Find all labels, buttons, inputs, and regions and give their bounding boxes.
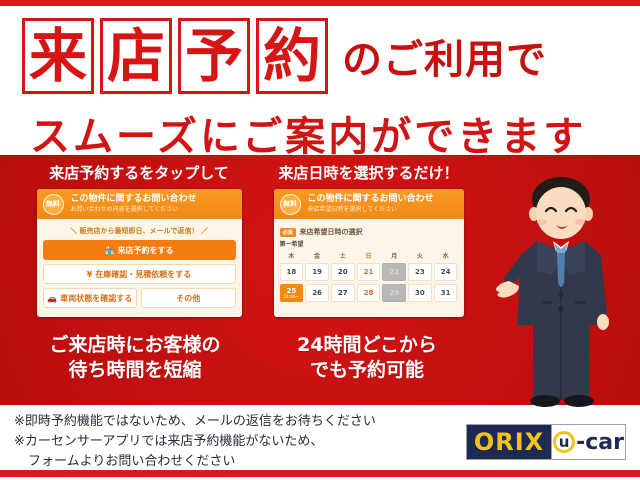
card-header-text: この物件に関するお問い合わせ 来店希望日時を選択してください <box>308 194 434 214</box>
weekday-cell: 土 <box>331 251 355 260</box>
bottom-accent-bar <box>0 470 640 477</box>
calendar-day-cell[interactable]: 28 <box>357 284 381 302</box>
footer-note-2: ※カーセンサーアプリでは来店予約機能がないため、 <box>14 432 444 452</box>
u-circle-icon: u <box>553 431 575 453</box>
stock-quote-button-label: 在庫確認・見積依頼をする <box>95 269 191 280</box>
right-caption: 24時間どこから でも予約可能 <box>262 333 472 383</box>
promo-text: ＼ 販売店から最短即日、メールで返信！ ／ <box>43 223 236 240</box>
calendar-day-cell[interactable]: 21 <box>357 263 381 281</box>
headline-boxed-char: 予 <box>178 18 250 94</box>
other-button-label: その他 <box>176 293 200 304</box>
orix-wordmark: ORIX <box>467 425 551 459</box>
weekday-cell: 日 <box>357 251 381 260</box>
headline-boxed-char: 約 <box>256 18 328 94</box>
feature-column-left: 来店予約するをタップして 無料 この物件に関するお問い合わせ お問い合わせの内容… <box>14 155 264 317</box>
calendar-day-cell[interactable]: 27 <box>331 284 355 302</box>
card-header-text: この物件に関するお問い合わせ お問い合わせの内容を選択してください <box>71 194 197 214</box>
calendar-day-cell[interactable]: 30 <box>408 284 432 302</box>
feature-column-right: 来店日時を選択するだけ！ 無料 この物件に関するお問い合わせ 来店希望日時を選択… <box>266 155 471 317</box>
car-icon: 🚗 <box>47 294 57 303</box>
calendar-week-row: 25 14:00〜 26 27 28 29 30 31 <box>280 284 458 302</box>
vehicle-condition-button-label: 車両状態を確認する <box>60 293 132 304</box>
store-icon: 🏪 <box>105 246 115 255</box>
date-picker-card: 無料 この物件に関するお問い合わせ 来店希望日時を選択してください 必須 来店希… <box>274 189 464 317</box>
calendar-section-label: 必須 来店希望日時の選択 <box>280 227 458 237</box>
other-button[interactable]: その他 <box>141 288 236 308</box>
preference-label: 第一希望 <box>280 239 458 248</box>
feature-panel: 来店予約するをタップして 無料 この物件に関するお問い合わせ お問い合わせの内容… <box>0 155 640 405</box>
calendar-day-cell[interactable]: 18 <box>280 263 304 281</box>
card-body: 必須 来店希望日時の選択 第一希望 木 金 土 日 月 火 水 18 19 20 <box>274 219 464 302</box>
calendar-day-cell[interactable]: 19 <box>305 263 329 281</box>
card-header-subtitle: お問い合わせの内容を選択してください <box>71 205 197 214</box>
right-column-title: 来店日時を選択するだけ！ <box>266 155 471 183</box>
weekday-cell: 水 <box>434 251 458 260</box>
free-badge: 無料 <box>280 194 301 215</box>
ucar-wordmark: u -car <box>551 425 625 459</box>
weekday-cell: 金 <box>305 251 329 260</box>
calendar-day-cell[interactable]: 23 <box>408 263 432 281</box>
top-accent-bar <box>0 0 640 6</box>
headline-line-1: 来 店 予 約 のご利用で <box>22 18 547 94</box>
calendar-day-cell-disabled: 29 <box>382 284 406 302</box>
free-badge: 無料 <box>43 194 64 215</box>
footer-notes: ※即時予約機能ではないため、メールの返信をお待ちください ※カーセンサーアプリで… <box>14 412 444 472</box>
card-header-title: この物件に関するお問い合わせ <box>71 194 197 205</box>
calendar-day-cell[interactable]: 20 <box>331 263 355 281</box>
card-header: 無料 この物件に関するお問い合わせ お問い合わせの内容を選択してください <box>37 189 242 219</box>
left-caption: ご来店時にお客様の 待ち時間を短縮 <box>10 333 260 383</box>
yen-icon: ¥ <box>87 270 93 279</box>
vehicle-condition-button[interactable]: 🚗 車両状態を確認する <box>43 288 138 308</box>
calendar-day-cell[interactable]: 24 <box>434 263 458 281</box>
calendar-day-cell-disabled: 22 <box>382 263 406 281</box>
weekday-cell: 火 <box>408 251 432 260</box>
weekday-cell: 木 <box>280 251 304 260</box>
calendar-section-title: 来店希望日時の選択 <box>300 227 363 237</box>
headline-line-2: スムーズにご案内ができます <box>30 104 586 162</box>
secondary-button-row: 🚗 車両状態を確認する その他 <box>43 288 236 308</box>
card-header-subtitle: 来店希望日時を選択してください <box>308 205 434 214</box>
calendar-weekday-header: 木 金 土 日 月 火 水 <box>280 251 458 260</box>
calendar-day-cell-selected[interactable]: 25 14:00〜 <box>280 284 304 302</box>
footer-note-3: フォームよりお問い合わせください <box>14 452 444 472</box>
headline-tail-text: のご利用で <box>342 27 547 85</box>
calendar-week-row: 18 19 20 21 22 23 24 <box>280 263 458 281</box>
calendar-day-cell[interactable]: 31 <box>434 284 458 302</box>
headline-boxed-char: 来 <box>22 18 94 94</box>
orix-ucar-logo: ORIX u -car <box>466 424 626 460</box>
stock-quote-button[interactable]: ¥ 在庫確認・見積依頼をする <box>43 264 236 284</box>
car-text: -car <box>576 430 624 455</box>
required-tag: 必須 <box>280 228 296 237</box>
left-column-title: 来店予約するをタップして <box>14 155 264 183</box>
card-body: ＼ 販売店から最短即日、メールで返信！ ／ 🏪 来店予約をする ¥ 在庫確認・見… <box>37 219 242 308</box>
card-header: 無料 この物件に関するお問い合わせ 来店希望日時を選択してください <box>274 189 464 219</box>
salesman-illustration <box>493 175 628 407</box>
reserve-visit-button-label: 来店予約をする <box>117 245 173 256</box>
selected-day-time: 14:00〜 <box>284 295 300 299</box>
headline: 来 店 予 約 のご利用で スムーズにご案内ができます <box>0 12 640 152</box>
footer-note-1: ※即時予約機能ではないため、メールの返信をお待ちください <box>14 412 444 432</box>
headline-boxed-char: 店 <box>100 18 172 94</box>
weekday-cell: 月 <box>382 251 406 260</box>
card-header-title: この物件に関するお問い合わせ <box>308 194 434 205</box>
calendar-day-cell[interactable]: 26 <box>305 284 329 302</box>
inquiry-form-card: 無料 この物件に関するお問い合わせ お問い合わせの内容を選択してください ＼ 販… <box>37 189 242 317</box>
reserve-visit-button[interactable]: 🏪 来店予約をする <box>43 240 236 260</box>
